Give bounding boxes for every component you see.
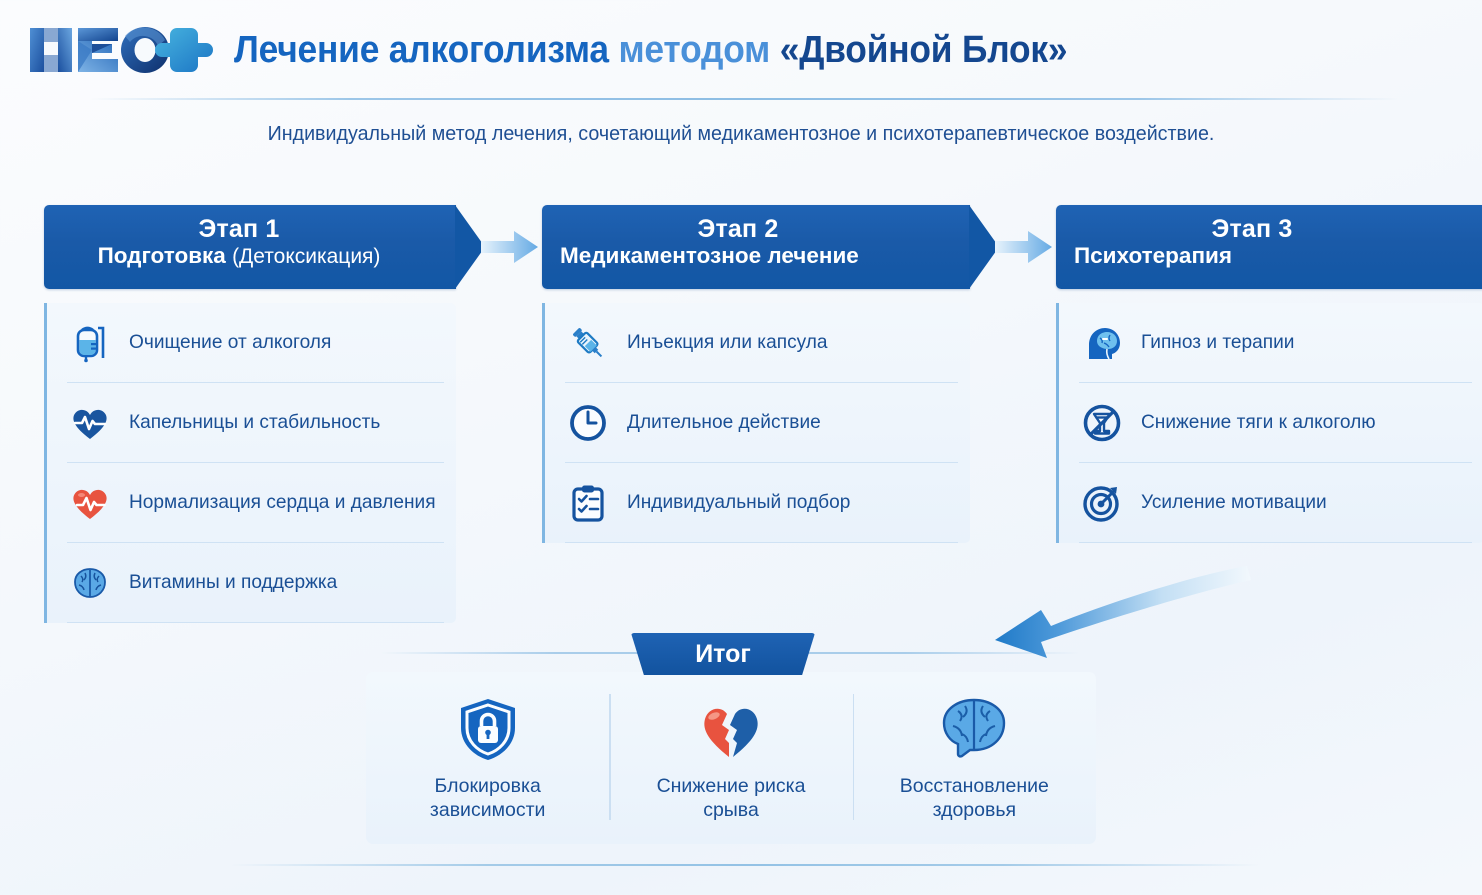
feature-label: Гипноз и терапии (1141, 331, 1294, 354)
stage-card-3: Этап 3 Психотерапия Гипноз и терапии (1056, 205, 1482, 543)
title-part-3: «Двойной Блок» (780, 29, 1068, 71)
feature-item[interactable]: Инъекция или капсула (565, 303, 958, 383)
feature-label: Индивидуальный подбор (627, 491, 850, 514)
stage-card-2: Этап 2 Медикаментозное лечение (542, 205, 970, 543)
feature-label: Снижение тяги к алкоголю (1141, 411, 1376, 434)
feature-label: Длительное действие (627, 411, 821, 434)
broken-heart-icon (696, 694, 766, 764)
neo-plus-logo (26, 21, 216, 79)
result-item[interactable]: Снижение риска срыва (609, 688, 852, 828)
stage-card-1: Этап 1 Подготовка (Детоксикация) (44, 205, 456, 623)
stage-1-name: Подготовка (Детоксикация) (62, 243, 416, 269)
iv-drip-icon (67, 320, 113, 366)
feature-label: Усиление мотивации (1141, 491, 1327, 514)
feature-label: Витамины и поддержка (129, 571, 337, 594)
result-badge-label: Итог (695, 640, 751, 669)
brain-icon (67, 560, 113, 606)
feature-item[interactable]: Очищение от алкоголя (67, 303, 444, 383)
no-alcohol-glass-icon (1079, 400, 1125, 446)
result-label-line2: здоровья (933, 799, 1017, 821)
brain-large-icon (936, 694, 1012, 764)
feature-item[interactable]: Снижение тяги к алкоголю (1079, 383, 1472, 463)
result-label-line1: Блокировка (435, 775, 541, 797)
stage-1-name-main: Подготовка (98, 243, 226, 268)
feature-label: Капельницы и стабильность (129, 411, 380, 434)
head-brain-icon (1079, 320, 1125, 366)
clipboard-checklist-icon (565, 480, 611, 526)
stage-3-number: Этап 3 (1074, 216, 1430, 243)
stage-3-feature-list: Гипноз и терапии Снижение тяги к алкогол… (1056, 303, 1482, 543)
header-divider (90, 98, 1400, 100)
stage-1-name-sub: (Детоксикация) (232, 245, 380, 268)
heart-pulse-blue-icon (67, 400, 113, 446)
result-item[interactable]: Восстановление здоровья (853, 688, 1096, 828)
stage-1-number: Этап 1 (62, 216, 416, 243)
result-label-line1: Снижение риска (657, 775, 806, 797)
target-arrow-icon (1079, 480, 1125, 526)
feature-item[interactable]: Усиление мотивации (1079, 463, 1472, 543)
result-panel: Блокировка зависимости Снижение риска ср… (366, 672, 1096, 844)
result-label-line1: Восстановление (900, 775, 1049, 797)
stage-1-header: Этап 1 Подготовка (Детоксикация) (44, 205, 456, 289)
syringe-icon (565, 320, 611, 366)
stage-3-header: Этап 3 Психотерапия (1056, 205, 1482, 289)
feature-item[interactable]: Гипноз и терапии (1079, 303, 1472, 383)
feature-item[interactable]: Индивидуальный подбор (565, 463, 958, 543)
result-label: Снижение риска срыва (657, 774, 806, 823)
result-item[interactable]: Блокировка зависимости (366, 688, 609, 828)
feature-label: Нормализация сердца и давления (129, 491, 436, 514)
shield-lock-icon (453, 694, 523, 764)
stage-2-name: Медикаментозное лечение (560, 243, 916, 268)
title-part-2: методом (618, 29, 770, 71)
feature-item[interactable]: Витамины и поддержка (67, 543, 444, 623)
feature-item[interactable]: Длительное действие (565, 383, 958, 463)
feature-item[interactable]: Капельницы и стабильность (67, 383, 444, 463)
stage-1-feature-list: Очищение от алкоголя Капельницы и стабил… (44, 303, 456, 623)
right-arrow-icon (993, 228, 1055, 266)
result-label: Восстановление здоровья (900, 774, 1049, 823)
stage-2-number: Этап 2 (560, 216, 916, 243)
loop-arrow (985, 548, 1285, 668)
result-label-line2: зависимости (430, 799, 546, 821)
page-subtitle: Индивидуальный метод лечения, сочетающий… (30, 122, 1453, 146)
stage-3-name: Психотерапия (1074, 243, 1430, 268)
curved-left-arrow-icon (985, 548, 1285, 668)
stage-2-header: Этап 2 Медикаментозное лечение (542, 205, 970, 289)
result-label-line2: срыва (703, 799, 759, 821)
result-badge: Итог (631, 633, 815, 675)
feature-item[interactable]: Нормализация сердца и давления (67, 463, 444, 543)
result-label: Блокировка зависимости (430, 774, 546, 823)
title-part-1: Лечение алкоголизма (234, 29, 609, 71)
step-arrow-1-to-2 (478, 205, 542, 289)
feature-label: Инъекция или капсула (627, 331, 828, 354)
feature-label: Очищение от алкоголя (129, 331, 331, 354)
stage-2-feature-list: Инъекция или капсула Длительное действие (542, 303, 970, 543)
right-arrow-icon (479, 228, 541, 266)
page-header: Лечение алкоголизма методом «Двойной Бло… (0, 0, 1482, 100)
page-title: Лечение алкоголизма методом «Двойной Бло… (234, 29, 1067, 72)
clock-icon (565, 400, 611, 446)
step-arrow-2-to-3 (992, 205, 1056, 289)
footer-divider (230, 864, 1260, 866)
heart-pulse-red-icon (67, 480, 113, 526)
